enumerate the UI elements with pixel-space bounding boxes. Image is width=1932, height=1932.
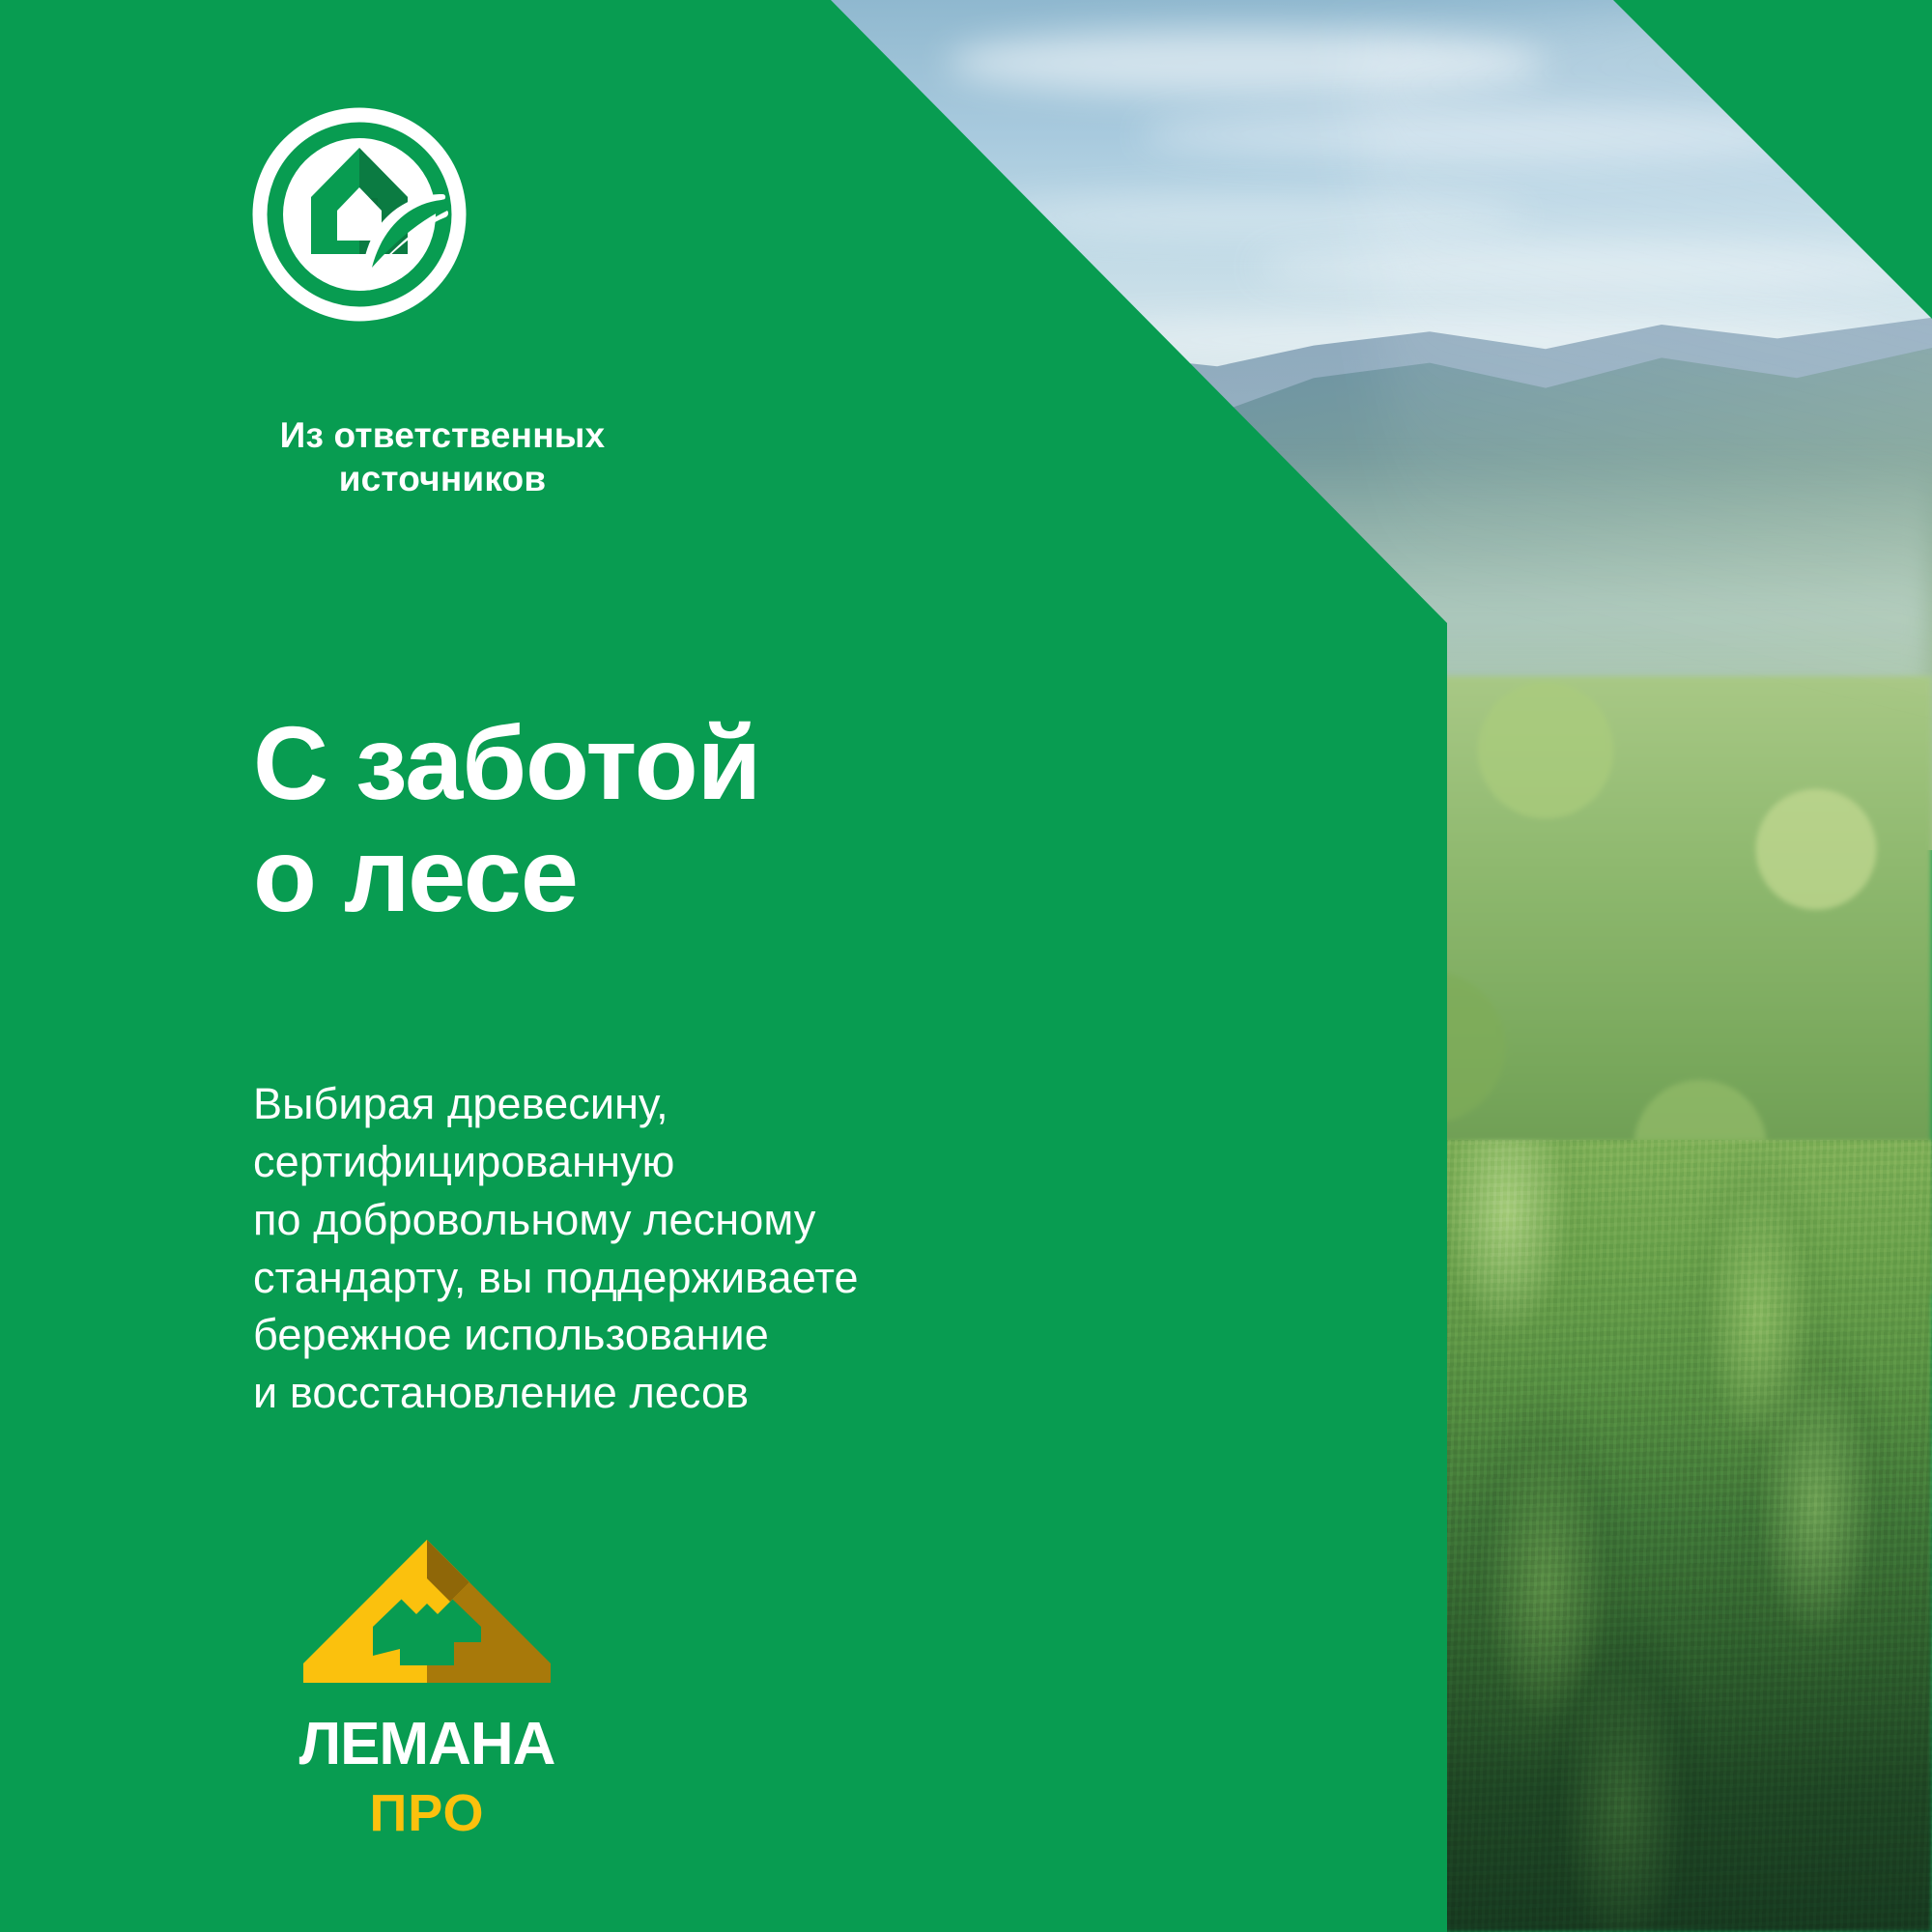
svg-text:ЛЕМАНА: ЛЕМАНА [299, 1711, 555, 1776]
body-paragraph: Выбирая древесину, сертифицированную по … [253, 1075, 1045, 1422]
brand-suffix: ПРО [253, 1785, 601, 1839]
eco-badge-caption: Из ответственных источников [249, 413, 636, 500]
eco-badge [249, 104, 469, 325]
svg-text:ПРО: ПРО [369, 1785, 484, 1839]
house-roof-icon [253, 1534, 601, 1689]
house-leaf-circle-icon [249, 104, 469, 325]
poster-content: Из ответственных источников С заботой о … [0, 0, 1932, 1932]
poster-canvas: Из ответственных источников С заботой о … [0, 0, 1932, 1932]
brand-logo: ЛЕМАНА ПРО [253, 1534, 601, 1839]
page-title: С заботой о лесе [253, 707, 987, 930]
brand-wordmark: ЛЕМАНА [253, 1710, 601, 1776]
